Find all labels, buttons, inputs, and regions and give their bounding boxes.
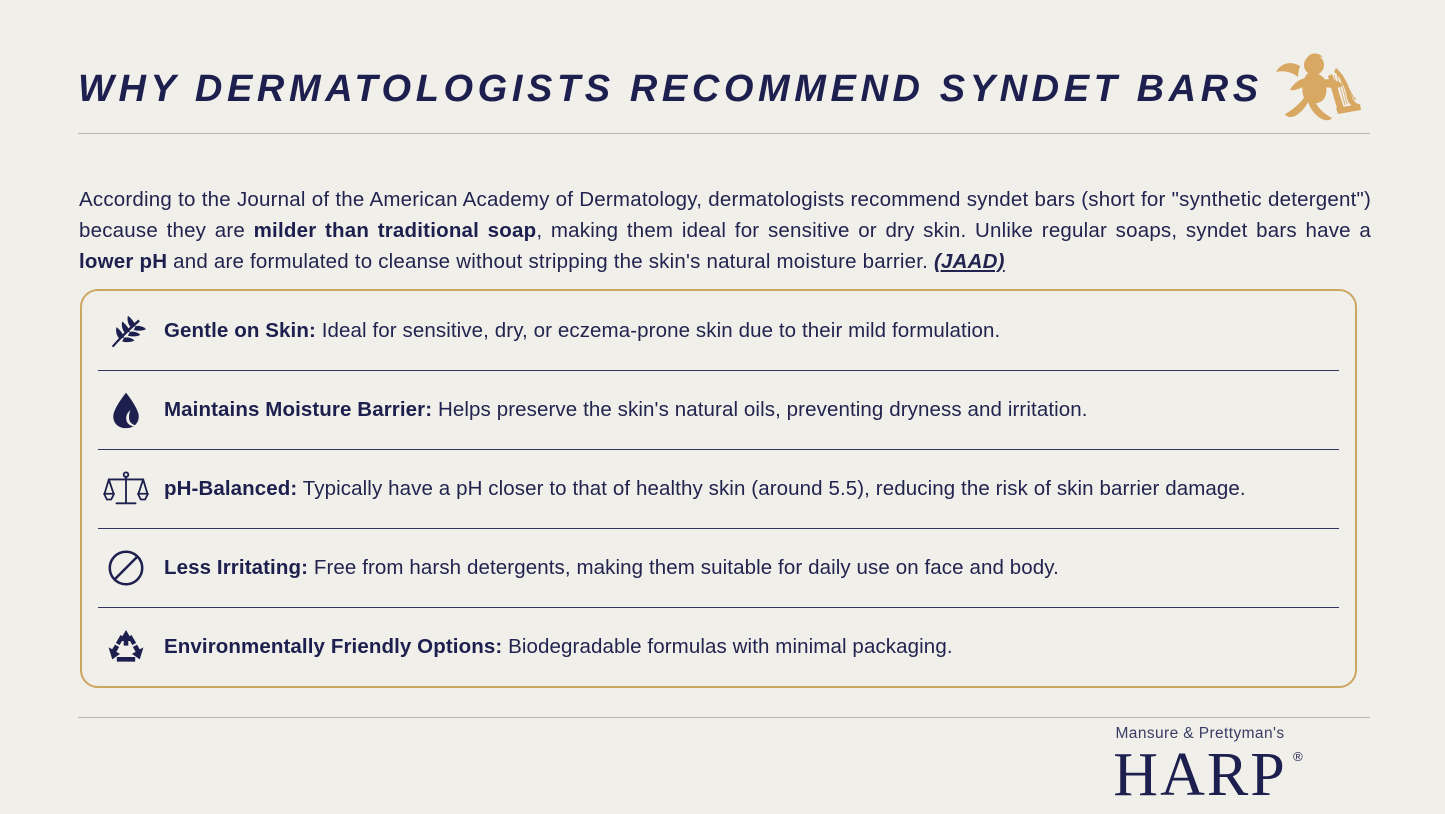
intro-text-2: , making them ideal for sensitive or dry…: [536, 219, 1371, 242]
intro-bold-1: milder than traditional soap: [254, 219, 537, 242]
brand-wordmark-text: HARP: [1113, 741, 1286, 809]
intro-bold-2: lower pH: [79, 250, 167, 273]
prohibition-icon: [100, 542, 152, 594]
brand-logo: Mansure & Prettyman's HARP®: [1030, 726, 1370, 806]
benefit-body: Helps preserve the skin's natural oils, …: [432, 398, 1087, 421]
benefit-lead: Gentle on Skin:: [164, 319, 316, 342]
benefit-text: Maintains Moisture Barrier: Helps preser…: [164, 396, 1088, 424]
header-divider: [78, 133, 1370, 134]
benefit-lead: Less Irritating:: [164, 556, 308, 579]
benefit-body: Typically have a pH closer to that of he…: [297, 477, 1245, 500]
benefit-text: Less Irritating: Free from harsh deterge…: [164, 554, 1059, 582]
benefit-body: Free from harsh detergents, making them …: [308, 556, 1059, 579]
brand-wordmark: HARP®: [1113, 744, 1286, 806]
water-droplet-icon: [100, 384, 152, 436]
registered-trademark-symbol: ®: [1293, 750, 1303, 763]
infographic-page: WHY DERMATOLOGISTS RECOMMEND SYNDET BARS: [0, 0, 1445, 814]
balance-scale-icon: [100, 463, 152, 515]
jaad-citation-link[interactable]: (JAAD): [934, 250, 1005, 273]
intro-text-3: and are formulated to cleanse without st…: [167, 250, 934, 273]
brand-kicker: Mansure & Prettyman's: [1030, 726, 1370, 742]
benefits-card: Gentle on Skin: Ideal for sensitive, dry…: [80, 289, 1357, 688]
intro-paragraph: According to the Journal of the American…: [79, 184, 1371, 277]
recycling-icon: [100, 621, 152, 673]
benefit-row-less-irritating: Less Irritating: Free from harsh deterge…: [82, 528, 1355, 607]
footer-divider: [78, 717, 1370, 718]
benefit-row-ph-balanced: pH-Balanced: Typically have a pH closer …: [82, 449, 1355, 528]
header: WHY DERMATOLOGISTS RECOMMEND SYNDET BARS: [78, 58, 1370, 120]
page-title: WHY DERMATOLOGISTS RECOMMEND SYNDET BARS: [78, 70, 1263, 108]
benefit-text: Gentle on Skin: Ideal for sensitive, dry…: [164, 317, 1000, 345]
benefit-body: Ideal for sensitive, dry, or eczema-pron…: [316, 319, 1000, 342]
benefit-lead: pH-Balanced:: [164, 477, 297, 500]
benefit-text: Environmentally Friendly Options: Biodeg…: [164, 633, 953, 661]
benefit-row-environmentally-friendly-options: Environmentally Friendly Options: Biodeg…: [82, 607, 1355, 686]
benefit-row-gentle-on-skin: Gentle on Skin: Ideal for sensitive, dry…: [82, 291, 1355, 370]
cherub-with-harp-icon: [1270, 42, 1366, 128]
benefit-lead: Environmentally Friendly Options:: [164, 635, 502, 658]
benefit-lead: Maintains Moisture Barrier:: [164, 398, 432, 421]
benefit-body: Biodegradable formulas with minimal pack…: [502, 635, 952, 658]
benefit-text: pH-Balanced: Typically have a pH closer …: [164, 475, 1246, 503]
leaf-icon: [100, 305, 152, 357]
benefit-row-maintains-moisture-barrier: Maintains Moisture Barrier: Helps preser…: [82, 370, 1355, 449]
